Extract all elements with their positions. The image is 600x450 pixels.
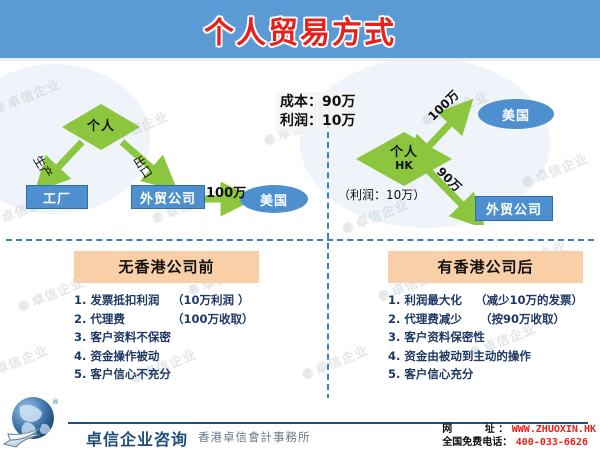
panel-before-list: 1. 发票抵扣利润 （10万利润 ） 2. 代理费 （100万收取） 3. 客户… xyxy=(74,295,259,381)
panel-after-list: 1. 利润最大化 （减少10万的发票） 2. 代理费减少 （按90万收取） 3.… xyxy=(388,295,583,381)
footer-contact: 网 址 ： WWW.ZHUOXIN.HK 全国免费电话： 400-033-662… xyxy=(442,424,596,449)
web-label-1: 网 xyxy=(442,424,459,437)
list-item-text: 1. 利润最大化 xyxy=(388,295,475,307)
company-name: 卓信企业咨询 xyxy=(86,426,188,450)
list-item-text: 5. 客户信心充分 xyxy=(388,369,473,381)
panel-before: 无香港公司前 1. 发票抵扣利润 （10万利润 ） 2. 代理费 （100万收取… xyxy=(74,251,259,388)
website-url[interactable]: WWW.ZHUOXIN.HK xyxy=(512,424,596,435)
right-person-label: 个人 HK xyxy=(390,146,418,171)
horizontal-divider xyxy=(6,239,594,241)
list-item: 1. 发票抵扣利润 （10万利润 ） xyxy=(74,295,259,307)
watermark-globe-icon xyxy=(17,298,31,312)
left-trade-company-node: 外贸公司 xyxy=(131,185,205,209)
right-person-label-sub: HK xyxy=(390,160,418,172)
company-logo-globe-icon: ® xyxy=(2,394,76,450)
list-item: 3. 客户资料保密性 xyxy=(388,332,583,344)
left-person-node: 个人 xyxy=(62,104,140,150)
watermark-globe-icon xyxy=(301,366,315,380)
left-usa-node: 美国 xyxy=(240,185,308,213)
list-item-text: 4. 资金由被动到主动的操作 xyxy=(388,351,531,363)
right-trade-company-label: 外贸公司 xyxy=(486,199,542,218)
right-profit-note: （利润：10万） xyxy=(338,186,425,203)
cost-line: 成本：90万 xyxy=(280,93,355,112)
left-amount-to-usa-label: 100万 xyxy=(206,182,246,201)
panel-after-title: 有香港公司后 xyxy=(388,251,583,283)
panel-after: 有香港公司后 1. 利润最大化 （减少10万的发票） 2. 代理费减少 （按90… xyxy=(388,251,583,388)
list-item-note: （按90万收取） xyxy=(480,314,565,326)
footer: ® 卓信企业咨询 香港卓信會計事務所 网 址 ： WWW.ZHUOXIN.HK … xyxy=(0,398,600,450)
left-factory-node: 工厂 xyxy=(26,185,88,209)
registered-mark: ® xyxy=(52,398,59,406)
list-item-note: （100万收取） xyxy=(172,314,254,326)
company-subname: 香港卓信會計事務所 xyxy=(198,429,311,445)
list-item: 5. 客户信心不充分 xyxy=(74,369,259,381)
list-item-text: 3. 客户资料保密性 xyxy=(388,332,485,344)
web-colon: ： xyxy=(498,424,508,435)
list-item: 4. 资金操作被动 xyxy=(74,351,259,363)
list-item-text: 3. 客户资料不保密 xyxy=(74,332,171,344)
cost-profit-summary: 成本：90万 利润：10万 xyxy=(276,92,359,132)
list-item-note: （减少10万的发票） xyxy=(475,295,583,307)
list-item-text: 2. 代理费减少 xyxy=(388,314,480,326)
phone-number[interactable]: 400-033-6626 xyxy=(516,437,588,448)
profit-line: 利润：10万 xyxy=(280,112,355,131)
list-item-text: 4. 资金操作被动 xyxy=(74,351,159,363)
left-trade-company-label: 外贸公司 xyxy=(140,188,196,207)
list-item-note: （10万利润 ） xyxy=(172,295,250,307)
phone-row: 全国免费电话： 400-033-6626 xyxy=(442,437,596,450)
list-item: 1. 利润最大化 （减少10万的发票） xyxy=(388,295,583,307)
left-usa-label: 美国 xyxy=(260,190,288,209)
list-item-text: 2. 代理费 xyxy=(74,314,172,326)
list-item: 2. 代理费减少 （按90万收取） xyxy=(388,314,583,326)
panel-before-title: 无香港公司前 xyxy=(74,251,259,283)
left-factory-label: 工厂 xyxy=(43,188,71,207)
web-label-2: 址 xyxy=(463,424,495,437)
website-row: 网 址 ： WWW.ZHUOXIN.HK xyxy=(442,424,596,437)
slide-canvas: 个人贸易方式 卓信企业 卓信企业 卓信企业 卓信企业 卓信企业 卓信企业 卓信企… xyxy=(0,0,600,450)
right-usa-node: 美国 xyxy=(478,99,554,129)
list-item: 2. 代理费 （100万收取） xyxy=(74,314,259,326)
phone-label: 全国免费电话： xyxy=(442,437,512,448)
title-banner: 个人贸易方式 xyxy=(0,0,600,61)
right-trade-company-node: 外贸公司 xyxy=(475,196,553,221)
list-item: 3. 客户资料不保密 xyxy=(74,332,259,344)
left-person-label: 个人 xyxy=(87,120,115,134)
watermark-text: 卓信企业 xyxy=(313,343,371,378)
list-item: 5. 客户信心充分 xyxy=(388,369,583,381)
right-usa-label: 美国 xyxy=(502,105,530,124)
list-item: 4. 资金由被动到主动的操作 xyxy=(388,351,583,363)
page-title: 个人贸易方式 xyxy=(0,8,600,52)
watermark-text: 卓信企业 xyxy=(0,343,51,378)
list-item-text: 1. 发票抵扣利润 xyxy=(74,295,172,307)
list-item-text: 5. 客户信心不充分 xyxy=(74,369,171,381)
